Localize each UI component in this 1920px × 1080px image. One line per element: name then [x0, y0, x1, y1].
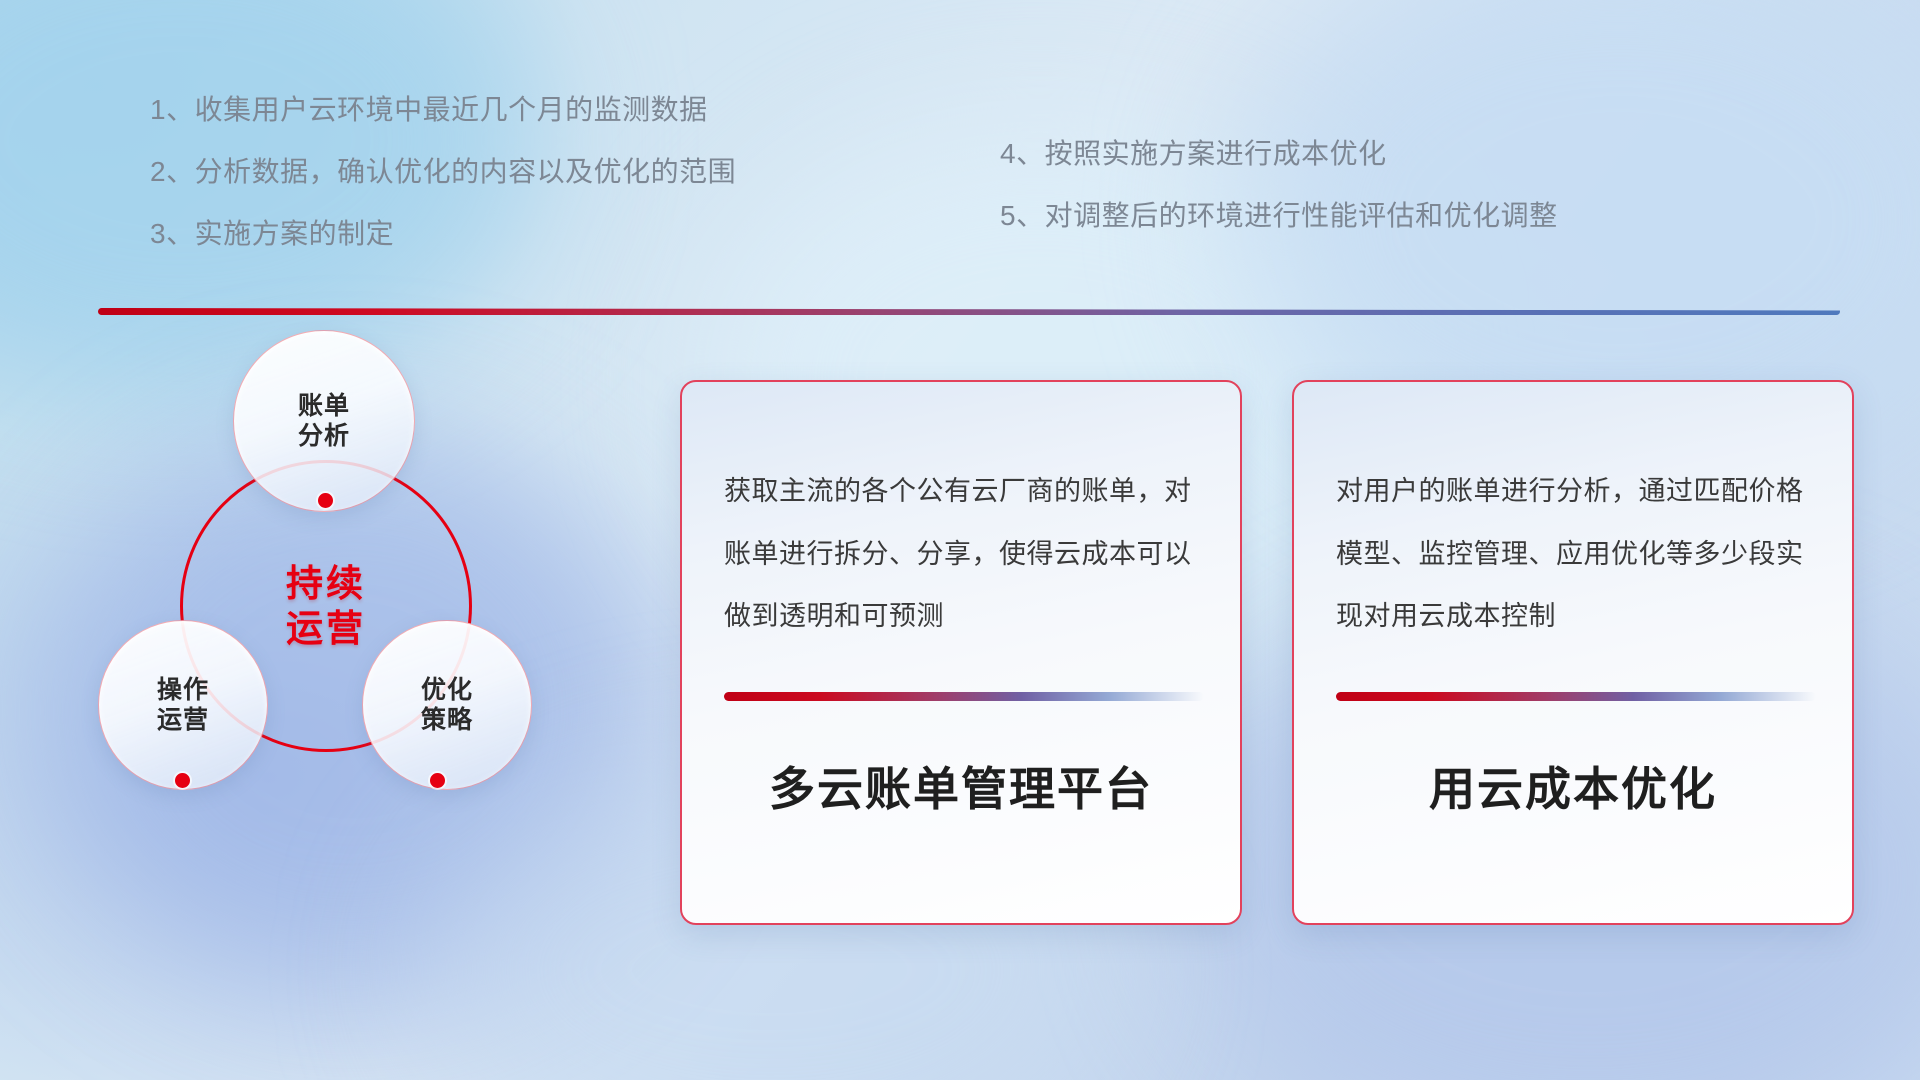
card-description: 对用户的账单进行分析，通过匹配价格模型、监控管理、应用优化等多少段实现对用云成本…	[1336, 460, 1810, 648]
node-label-line-1: 账单	[298, 391, 350, 422]
feature-card-cost-optimization[interactable]: 对用户的账单进行分析，通过匹配价格模型、监控管理、应用优化等多少段实现对用云成本…	[1292, 380, 1854, 925]
diagram-node-bill-analysis[interactable]: 账单 分析	[233, 330, 415, 512]
card-title: 用云成本优化	[1336, 753, 1810, 819]
node-label-line-1: 操作	[157, 675, 209, 706]
feature-card-multicloud-billing[interactable]: 获取主流的各个公有云厂商的账单，对账单进行拆分、分享，使得云成本可以做到透明和可…	[680, 380, 1242, 925]
process-step-5: 5、对调整后的环境进行性能评估和优化调整	[1000, 202, 1700, 230]
card-description: 获取主流的各个公有云厂商的账单，对账单进行拆分、分享，使得云成本可以做到透明和可…	[724, 460, 1198, 648]
diagram-node-optimization-strategy[interactable]: 优化 策略	[362, 620, 532, 790]
card-accent-rule	[1336, 692, 1816, 701]
process-step-2: 2、分析数据，确认优化的内容以及优化的范围	[150, 158, 1000, 186]
slide-canvas: 1、收集用户云环境中最近几个月的监测数据 2、分析数据，确认优化的内容以及优化的…	[0, 0, 1920, 1080]
connector-dot-icon	[318, 493, 333, 508]
continuous-operations-diagram: 持续 运营 账单 分析 操作 运营 优化 策略	[90, 330, 560, 950]
diagram-node-operations[interactable]: 操作 运营	[98, 620, 268, 790]
section-divider-rule	[98, 308, 1840, 315]
process-steps-right-column: 4、按照实施方案进行成本优化 5、对调整后的环境进行性能评估和优化调整	[1000, 96, 1700, 264]
process-step-3: 3、实施方案的制定	[150, 220, 1000, 248]
connector-dot-icon	[430, 773, 445, 788]
node-label-line-1: 优化	[421, 675, 473, 706]
process-steps: 1、收集用户云环境中最近几个月的监测数据 2、分析数据，确认优化的内容以及优化的…	[150, 96, 1770, 282]
process-step-1: 1、收集用户云环境中最近几个月的监测数据	[150, 96, 1000, 124]
feature-cards: 获取主流的各个公有云厂商的账单，对账单进行拆分、分享，使得云成本可以做到透明和可…	[680, 380, 1854, 925]
card-title: 多云账单管理平台	[724, 753, 1198, 819]
node-label-line-2: 策略	[421, 705, 473, 736]
card-accent-rule	[724, 692, 1204, 701]
center-label-line-1: 持续	[286, 561, 366, 606]
node-label-line-2: 分析	[298, 421, 350, 452]
process-steps-left-column: 1、收集用户云环境中最近几个月的监测数据 2、分析数据，确认优化的内容以及优化的…	[150, 96, 1000, 282]
node-label-line-2: 运营	[157, 705, 209, 736]
connector-dot-icon	[175, 773, 190, 788]
center-label-line-2: 运营	[286, 606, 366, 651]
process-step-4: 4、按照实施方案进行成本优化	[1000, 140, 1700, 168]
